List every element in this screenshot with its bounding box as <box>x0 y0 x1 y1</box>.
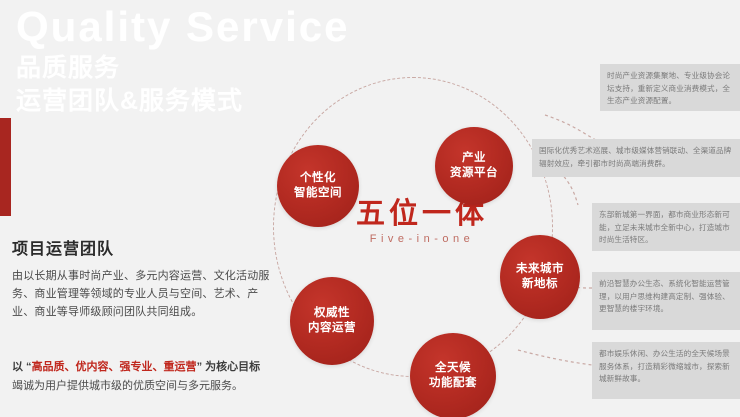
slide-canvas: Quality Service 品质服务 运营团队&服务模式 项目运营团队 由以… <box>0 0 740 417</box>
node-industry-resource-platform[interactable]: 产业 资源平台 <box>435 127 513 205</box>
node-label-line1: 全天候 <box>429 361 477 376</box>
callout-industry: 时尚产业资源集聚地、专业级协会论坛支持，重新定义商业消费模式，全生态产业资源配置… <box>600 64 740 111</box>
node-future-city-landmark[interactable]: 未来城市 新地标 <box>500 235 580 319</box>
node-label-line1: 个性化 <box>294 171 342 186</box>
core-goal-prefix: 以 “ <box>12 361 32 373</box>
node-label-line2: 资源平台 <box>450 166 498 181</box>
node-all-weather-facilities[interactable]: 全天候 功能配套 <box>410 333 496 417</box>
callout-text: 国际化优秀艺术巡展、城市级媒体营销联动、全渠道品牌辐射效应，牵引都市时尚高端消费… <box>539 145 733 170</box>
node-label-line1: 未来城市 <box>516 262 564 277</box>
node-label-line2: 新地标 <box>516 277 564 292</box>
core-goal-highlight: 高品质、优内容、强专业、重运营 <box>32 361 197 373</box>
left-accent-bar <box>0 118 11 216</box>
center-title-en: Five-in-one <box>327 231 517 248</box>
node-label-line1: 产业 <box>450 151 498 166</box>
callout-leisure: 都市娱乐休闲、办公生活的全天候场景服务体系，打造精彩微缩城市，探索新城新鲜故事。 <box>592 342 740 399</box>
callout-art-marketing: 国际化优秀艺术巡展、城市级媒体营销联动、全渠道品牌辐射效应，牵引都市时尚高端消费… <box>532 139 740 177</box>
callout-text: 都市娱乐休闲、办公生活的全天候场景服务体系，打造精彩微缩城市，探索新城新鲜故事。 <box>599 348 733 386</box>
node-label-line2: 功能配套 <box>429 376 477 391</box>
node-authoritative-content-operation[interactable]: 权威性 内容运营 <box>290 277 374 365</box>
callout-text: 东部新城第一界面，都市商业形态新可能，立足未来城市全新中心，打造城市时尚生活特区… <box>599 209 733 247</box>
diagram-center-label: 五位一体 Five-in-one <box>327 197 517 248</box>
callout-text: 前沿智慧办公生态、系统化智能运营管理，以用户思维构建高定制、强体验、更智慧的楼宇… <box>599 278 733 316</box>
project-team-heading: 项目运营团队 <box>12 235 274 259</box>
project-team-block: 项目运营团队 由以长期从事时尚产业、多元内容运营、文化活动服务、商业管理等领域的… <box>12 235 274 321</box>
core-goal-suffix: ” 为核心目标 <box>197 361 261 373</box>
callout-smart-office: 前沿智慧办公生态、系统化智能运营管理，以用户思维构建高定制、强体验、更智慧的楼宇… <box>592 272 740 330</box>
node-label-line2: 智能空间 <box>294 186 342 201</box>
node-label-line2: 内容运营 <box>308 321 356 336</box>
project-team-body: 由以长期从事时尚产业、多元内容运营、文化活动服务、商业管理等领域的专业人员与空间… <box>12 267 274 321</box>
node-personalized-smart-space[interactable]: 个性化 智能空间 <box>277 145 359 227</box>
callout-text: 时尚产业资源集聚地、专业级协会论坛支持，重新定义商业消费模式，全生态产业资源配置… <box>607 70 733 108</box>
five-in-one-diagram: 五位一体 Five-in-one 产业 资源平台 个性化 智能空间 未来城市 新… <box>255 55 585 405</box>
node-label-line1: 权威性 <box>308 306 356 321</box>
callout-new-city: 东部新城第一界面，都市商业形态新可能，立足未来城市全新中心，打造城市时尚生活特区… <box>592 203 740 251</box>
header-title-en: Quality Service <box>16 2 350 52</box>
